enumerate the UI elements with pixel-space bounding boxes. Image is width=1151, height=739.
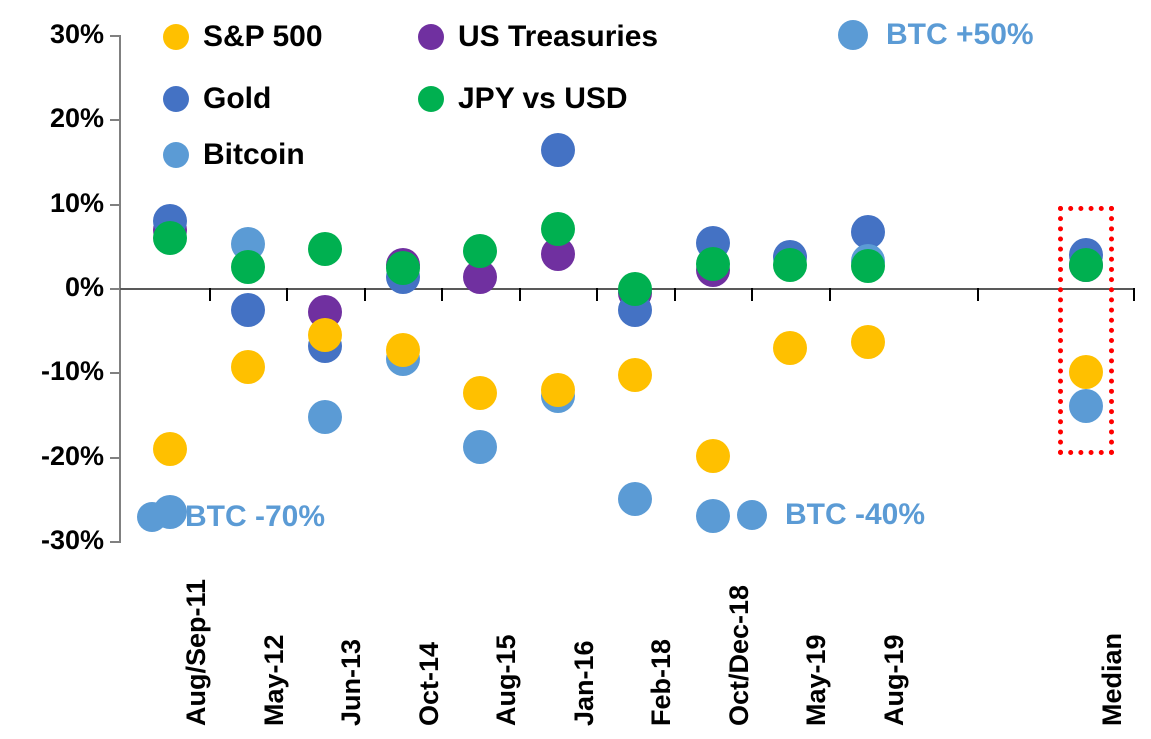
jpyusd-legend-dot — [418, 86, 444, 112]
gold-legend-dot — [163, 86, 189, 112]
annotation-label: BTC -70% — [185, 500, 325, 534]
y-axis-tick — [110, 541, 120, 543]
legend-item-jpy-vs-usd[interactable]: JPY vs USD — [418, 82, 628, 116]
data-point-sp — [153, 432, 187, 466]
annotation-label: BTC +50% — [886, 18, 1034, 52]
y-axis-tick-label: -20% — [0, 443, 104, 470]
data-point-gold — [231, 293, 265, 327]
data-point-sp — [851, 325, 885, 359]
x-axis-tick-label: Oct/Dec-18 — [724, 585, 755, 726]
legend-item-label: US Treasuries — [458, 20, 658, 54]
data-point-sp — [773, 331, 807, 365]
data-point-jpy — [773, 248, 807, 282]
data-point-jpy — [153, 221, 187, 255]
legend-item-label: Gold — [203, 82, 271, 116]
x-axis-tick-label: May-19 — [801, 634, 832, 726]
category-separator-tick — [596, 288, 598, 301]
annotation-btc-minus-40: BTC -40% — [737, 498, 925, 532]
y-axis-tick — [110, 372, 120, 374]
data-point-jpy — [463, 234, 497, 268]
legend-item-s-p-500[interactable]: S&P 500 — [163, 20, 323, 54]
data-point-sp — [463, 376, 497, 410]
data-point-jpy — [851, 249, 885, 283]
bitcoin-dot-icon — [737, 500, 767, 530]
bitcoin-legend-dot — [163, 142, 189, 168]
x-axis-tick-label: May-12 — [259, 634, 290, 726]
y-axis-tick-label: -10% — [0, 358, 104, 385]
category-separator-tick — [209, 288, 211, 301]
y-axis-tick-label: 10% — [0, 190, 104, 217]
x-axis-tick-label: Oct-14 — [414, 642, 445, 726]
x-axis-tick-label: Jun-13 — [336, 639, 367, 726]
data-point-btc — [1069, 389, 1103, 423]
data-point-sp — [386, 333, 420, 367]
y-axis-tick-label: 30% — [0, 21, 104, 48]
category-separator-tick — [441, 288, 443, 301]
annotation-label: BTC -40% — [785, 498, 925, 532]
y-axis-tick — [110, 457, 120, 459]
x-axis-tick-label: Aug-19 — [879, 634, 910, 726]
category-separator-tick — [1133, 288, 1135, 301]
annotation-btc-plus-50: BTC +50% — [838, 18, 1034, 52]
sp500-legend-dot — [163, 24, 189, 50]
y-axis-tick — [110, 288, 120, 290]
x-axis-tick-label: Jan-16 — [569, 640, 600, 726]
bitcoin-dot-icon — [838, 20, 868, 50]
data-point-sp — [618, 358, 652, 392]
data-point-jpy — [1069, 248, 1103, 282]
legend-item-us-treasuries[interactable]: US Treasuries — [418, 20, 658, 54]
category-separator-tick — [364, 288, 366, 301]
data-point-jpy — [618, 272, 652, 306]
x-axis-tick-label: Median — [1097, 633, 1128, 726]
data-point-jpy — [386, 251, 420, 285]
data-point-sp — [541, 373, 575, 407]
x-axis-tick-label: Feb-18 — [646, 639, 677, 726]
chart-canvas: 30%20%10%0%-10%-20%-30% Aug/Sep-11May-12… — [0, 0, 1151, 739]
data-point-sp — [696, 439, 730, 473]
legend-item-gold[interactable]: Gold — [163, 82, 271, 116]
y-axis-tick — [110, 204, 120, 206]
y-axis-tick — [110, 35, 120, 37]
legend-item-label: S&P 500 — [203, 20, 323, 54]
data-point-sp — [1069, 355, 1103, 389]
legend-item-label: JPY vs USD — [458, 82, 628, 116]
category-separator-tick — [286, 288, 288, 301]
data-point-jpy — [308, 232, 342, 266]
data-point-jpy — [696, 247, 730, 281]
annotation-btc-minus-70: BTC -70% — [137, 500, 325, 534]
y-axis-tick-label: 0% — [0, 274, 104, 301]
data-point-btc — [618, 482, 652, 516]
category-separator-tick — [519, 288, 521, 301]
x-axis-tick-label: Aug/Sep-11 — [181, 579, 212, 726]
data-point-btc — [696, 499, 730, 533]
y-axis-tick — [110, 119, 120, 121]
x-axis-tick-label: Aug-15 — [491, 634, 522, 726]
category-separator-tick — [977, 288, 979, 301]
bitcoin-dot-icon — [137, 502, 167, 532]
data-point-sp — [231, 350, 265, 384]
category-separator-tick — [751, 288, 753, 301]
data-point-jpy — [541, 212, 575, 246]
y-axis-tick-label: -30% — [0, 527, 104, 554]
data-point-jpy — [231, 250, 265, 284]
data-point-btc — [308, 400, 342, 434]
data-point-btc — [463, 430, 497, 464]
category-separator-tick — [674, 288, 676, 301]
ustreasuries-legend-dot — [418, 24, 444, 50]
category-separator-tick — [829, 288, 831, 301]
legend-item-label: Bitcoin — [203, 138, 305, 172]
data-point-gold — [541, 133, 575, 167]
y-axis-tick-label: 20% — [0, 105, 104, 132]
legend-item-bitcoin[interactable]: Bitcoin — [163, 138, 305, 172]
